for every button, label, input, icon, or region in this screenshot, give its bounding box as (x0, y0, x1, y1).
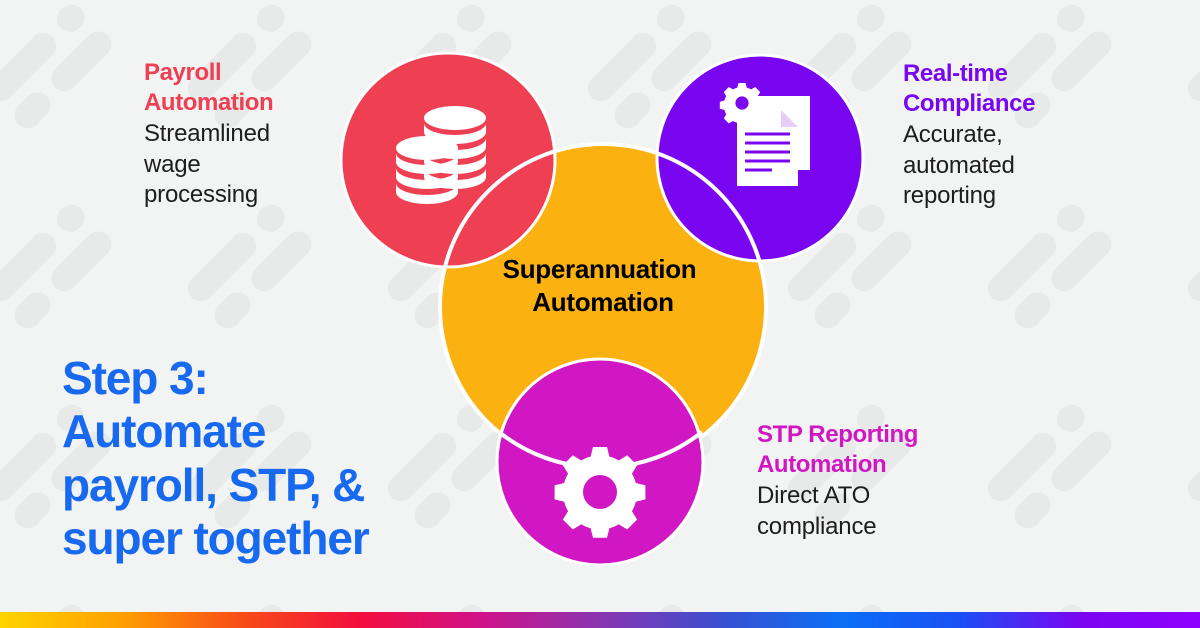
callout-stp-body: Direct ATO compliance (757, 481, 1017, 541)
callout-payroll-body: Streamlined wage processing (144, 119, 364, 210)
venn-center-label-line2: Automation (532, 287, 673, 317)
page-headline: Step 3: Automate payroll, STP, & super t… (62, 352, 482, 565)
callout-stp-title: STP Reporting Automation (757, 420, 1017, 480)
gear-icon (555, 447, 646, 538)
callout-stp-reporting: STP Reporting Automation Direct ATO comp… (757, 420, 1017, 542)
venn-center-label-line1: Superannuation (503, 254, 697, 284)
callout-realtime-body: Accurate, automated reporting (903, 120, 1143, 211)
callout-payroll-automation: Payroll Automation Streamlined wage proc… (144, 58, 364, 210)
callout-realtime-title: Real-time Compliance (903, 59, 1143, 119)
infographic-canvas: Superannuation Automation Step 3: Automa… (0, 0, 1200, 628)
bottom-gradient-bar (0, 612, 1200, 628)
payroll-automation-circle[interactable] (341, 53, 555, 267)
callout-real-time-compliance: Real-time Compliance Accurate, automated… (903, 59, 1143, 211)
callout-payroll-title: Payroll Automation (144, 58, 364, 118)
